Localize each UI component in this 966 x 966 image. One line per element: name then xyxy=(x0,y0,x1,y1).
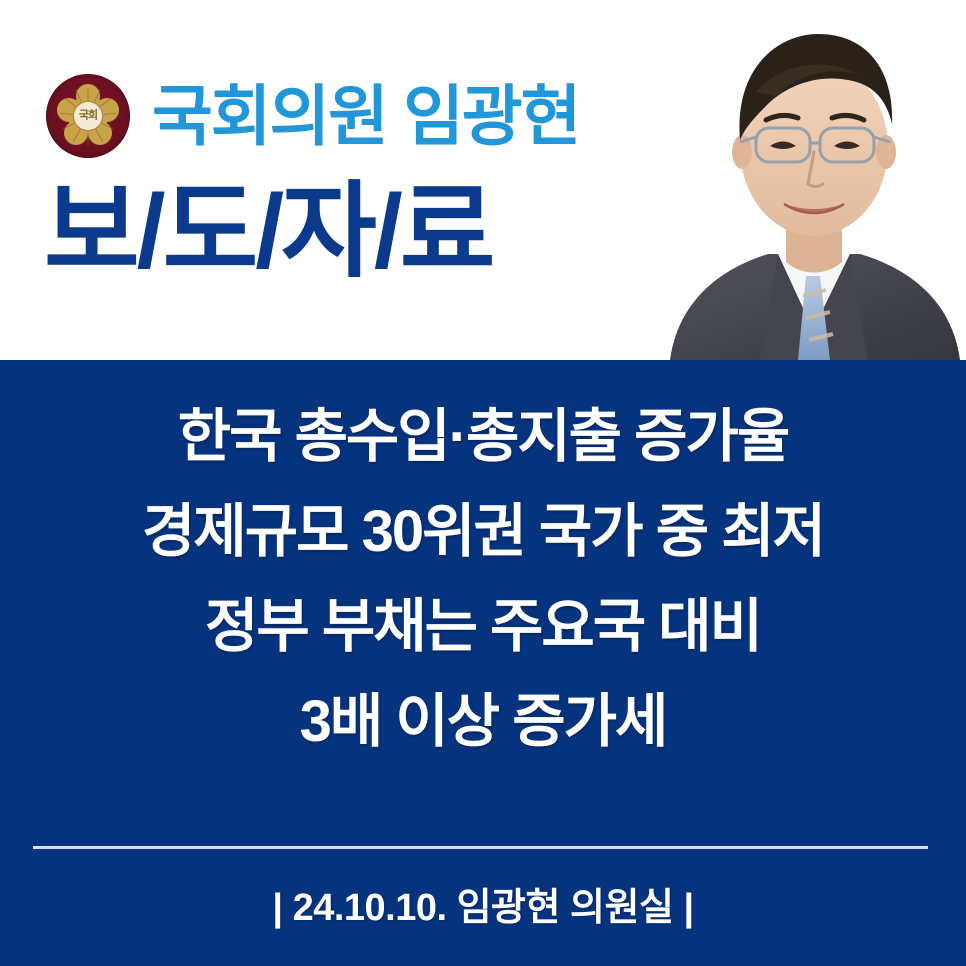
brand-title: 국회의원 임광현 xyxy=(152,83,579,149)
emblem-center-label: 국회 xyxy=(79,111,97,122)
headline-line-2: 경제규모 30위권 국가 중 최저 xyxy=(0,503,966,561)
card-body-panel: 한국 총수입·총지출 증가율 경제규모 30위권 국가 중 최저 정부 부채는 … xyxy=(0,360,966,966)
header-text-block: 국회 국회의원 임광현 보/도/자/료 xyxy=(0,0,700,360)
footer-note: | 24.10.10. 임광현 의원실 | xyxy=(0,876,966,931)
portrait-illustration xyxy=(660,0,966,360)
headline-line-3: 정부 부채는 주요국 대비 xyxy=(0,598,966,656)
card-header: 국회 국회의원 임광현 보/도/자/료 xyxy=(0,0,966,360)
headline-block: 한국 총수입·총지출 증가율 경제규모 30위권 국가 중 최저 정부 부채는 … xyxy=(0,408,966,751)
brand-row: 국회 국회의원 임광현 xyxy=(46,74,579,158)
press-release-card: 국회 국회의원 임광현 보/도/자/료 xyxy=(0,0,966,966)
lawmaker-portrait-photo xyxy=(660,0,966,360)
national-assembly-emblem-icon: 국회 xyxy=(46,74,130,158)
emblem-center-disc: 국회 xyxy=(73,101,104,132)
document-title: 보/도/자/료 xyxy=(44,178,492,287)
footer-divider xyxy=(33,846,928,849)
headline-line-4: 3배 이상 증가세 xyxy=(0,693,966,751)
headline-line-1: 한국 총수입·총지출 증가율 xyxy=(0,408,966,466)
